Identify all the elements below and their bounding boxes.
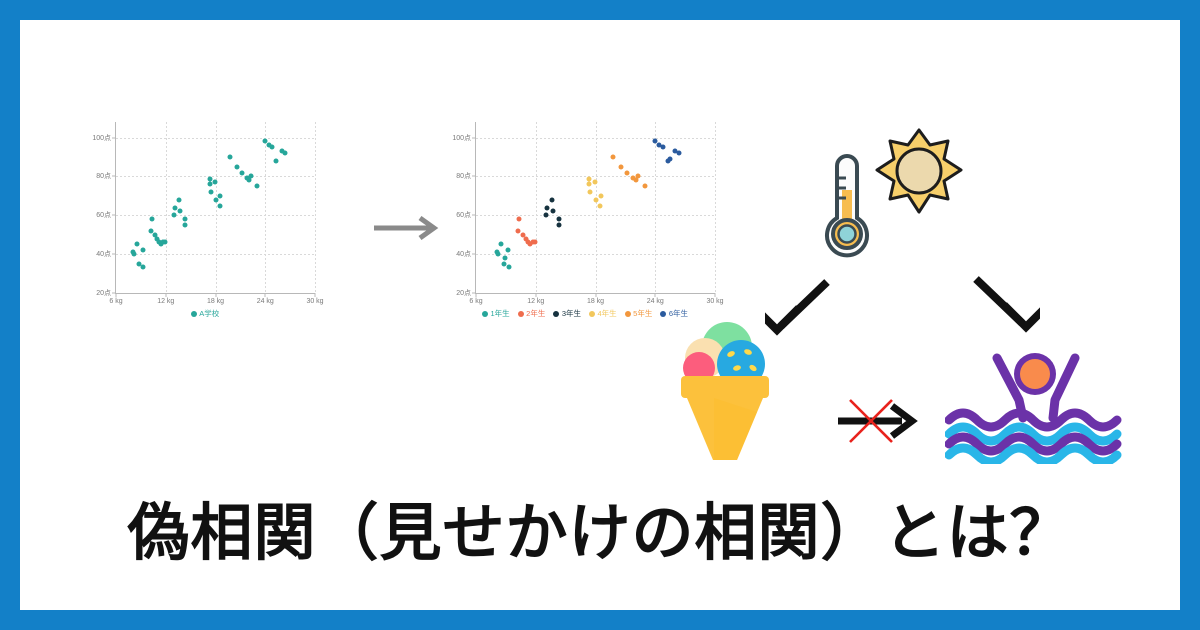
- x-tick-mark: [116, 293, 117, 297]
- legend-color-swatch: [589, 311, 595, 317]
- data-point: [515, 228, 520, 233]
- legend-color-swatch: [482, 311, 488, 317]
- x-tick-mark: [476, 293, 477, 297]
- data-point: [172, 213, 177, 218]
- x-tick-mark: [595, 293, 596, 297]
- data-point: [149, 217, 154, 222]
- data-point: [549, 197, 554, 202]
- x-tick-mark: [715, 293, 716, 297]
- data-point: [544, 205, 549, 210]
- y-tick-label: 60点: [456, 210, 476, 220]
- x-tick-label: 6 kg: [109, 298, 122, 305]
- legend-label: 4年生: [598, 308, 617, 319]
- data-point: [532, 240, 537, 245]
- legend-item[interactable]: 2年生: [518, 308, 546, 319]
- data-point: [599, 193, 604, 198]
- data-point: [132, 252, 137, 257]
- data-point: [506, 264, 511, 269]
- legend-item[interactable]: A学校: [191, 308, 220, 319]
- x-tick-label: 30 kg: [306, 298, 323, 305]
- legend-label: 2年生: [526, 308, 545, 319]
- x-tick-label: 12 kg: [157, 298, 174, 305]
- data-point: [141, 264, 146, 269]
- gridline-vertical: [715, 122, 716, 293]
- legend-label: A学校: [199, 308, 219, 319]
- thermometer-icon: [815, 150, 875, 260]
- data-point: [594, 197, 599, 202]
- y-tick-label: 80点: [96, 171, 116, 181]
- white-panel: 20点40点60点80点100点6 kg12 kg18 kg24 kg30 kg…: [20, 20, 1180, 610]
- data-point: [587, 189, 592, 194]
- data-point: [240, 170, 245, 175]
- data-point: [643, 184, 648, 189]
- data-point: [235, 164, 240, 169]
- data-point: [619, 164, 624, 169]
- data-point: [212, 180, 217, 185]
- ice-cream-cone-icon: [665, 302, 785, 462]
- data-point: [668, 156, 673, 161]
- arrow-down-right-icon: [970, 275, 1040, 337]
- legend-label: 3年生: [562, 308, 581, 319]
- data-point: [505, 248, 510, 253]
- scatter-chart-single-school: 20点40点60点80点100点6 kg12 kg18 kg24 kg30 kg…: [75, 112, 335, 342]
- legend-color-swatch: [518, 311, 524, 317]
- y-tick-label: 100点: [452, 133, 476, 143]
- data-point: [498, 242, 503, 247]
- data-point: [598, 203, 603, 208]
- data-point: [162, 240, 167, 245]
- legend-label: 1年生: [490, 308, 509, 319]
- data-point: [625, 170, 630, 175]
- x-tick-label: 18 kg: [587, 298, 604, 305]
- legend-label: 5年生: [633, 308, 652, 319]
- data-point: [636, 174, 641, 179]
- sun-icon: [873, 128, 965, 220]
- y-tick-label: 20点: [456, 288, 476, 298]
- gridline-vertical: [216, 122, 217, 293]
- gridline-vertical: [655, 122, 656, 293]
- data-point: [177, 197, 182, 202]
- crossed-out-right-arrow-icon: [832, 392, 924, 448]
- x-tick-label: 12 kg: [527, 298, 544, 305]
- x-tick-label: 6 kg: [469, 298, 482, 305]
- y-tick-label: 80点: [456, 171, 476, 181]
- data-point: [182, 222, 187, 227]
- data-point: [661, 145, 666, 150]
- x-tick-mark: [315, 293, 316, 297]
- data-point: [228, 154, 233, 159]
- legend-item[interactable]: 1年生: [482, 308, 510, 319]
- data-point: [611, 154, 616, 159]
- poster-canvas: 20点40点60点80点100点6 kg12 kg18 kg24 kg30 kg…: [0, 0, 1200, 630]
- gridline-vertical: [166, 122, 167, 293]
- data-point: [249, 174, 254, 179]
- gridline-vertical: [536, 122, 537, 293]
- gridline-vertical: [265, 122, 266, 293]
- data-point: [254, 184, 259, 189]
- legend-color-swatch: [553, 311, 559, 317]
- data-point: [140, 248, 145, 253]
- y-tick-label: 60点: [96, 210, 116, 220]
- data-point: [516, 217, 521, 222]
- x-tick-label: 24 kg: [647, 298, 664, 305]
- data-point: [556, 222, 561, 227]
- legend-color-swatch: [625, 311, 631, 317]
- data-point: [177, 209, 182, 214]
- swimmer-in-water-icon: [945, 342, 1125, 464]
- data-point: [269, 145, 274, 150]
- right-arrow-icon: [372, 216, 444, 240]
- x-tick-mark: [655, 293, 656, 297]
- y-tick-label: 40点: [96, 249, 116, 259]
- x-tick-mark: [535, 293, 536, 297]
- data-point: [172, 205, 177, 210]
- data-point: [586, 182, 591, 187]
- y-tick-label: 40点: [456, 249, 476, 259]
- legend-item[interactable]: 4年生: [589, 308, 617, 319]
- x-tick-mark: [265, 293, 266, 297]
- data-point: [543, 213, 548, 218]
- data-point: [214, 197, 219, 202]
- data-point: [274, 158, 279, 163]
- data-point: [217, 203, 222, 208]
- gridline-vertical: [315, 122, 316, 293]
- data-point: [283, 151, 288, 156]
- data-point: [495, 252, 500, 257]
- data-point: [677, 151, 682, 156]
- legend-color-swatch: [191, 311, 197, 317]
- y-tick-label: 100点: [92, 133, 116, 143]
- data-point: [556, 217, 561, 222]
- gridline-vertical: [596, 122, 597, 293]
- legend-item[interactable]: 5年生: [625, 308, 653, 319]
- x-tick-mark: [215, 293, 216, 297]
- data-point: [502, 256, 507, 261]
- x-tick-label: 24 kg: [257, 298, 274, 305]
- data-point: [592, 180, 597, 185]
- plot-area-right: 20点40点60点80点100点6 kg12 kg18 kg24 kg30 kg: [475, 122, 715, 294]
- data-point: [208, 189, 213, 194]
- data-point: [182, 217, 187, 222]
- chart-legend-left: A学校: [75, 308, 335, 319]
- y-tick-label: 20点: [96, 288, 116, 298]
- data-point: [218, 193, 223, 198]
- data-point: [134, 242, 139, 247]
- x-tick-mark: [165, 293, 166, 297]
- plot-area-left: 20点40点60点80点100点6 kg12 kg18 kg24 kg30 kg: [115, 122, 315, 294]
- legend-item[interactable]: 3年生: [553, 308, 581, 319]
- data-point: [550, 209, 555, 214]
- page-title: 偽相関（見せかけの相関）とは？: [20, 482, 1180, 572]
- x-tick-label: 18 kg: [207, 298, 224, 305]
